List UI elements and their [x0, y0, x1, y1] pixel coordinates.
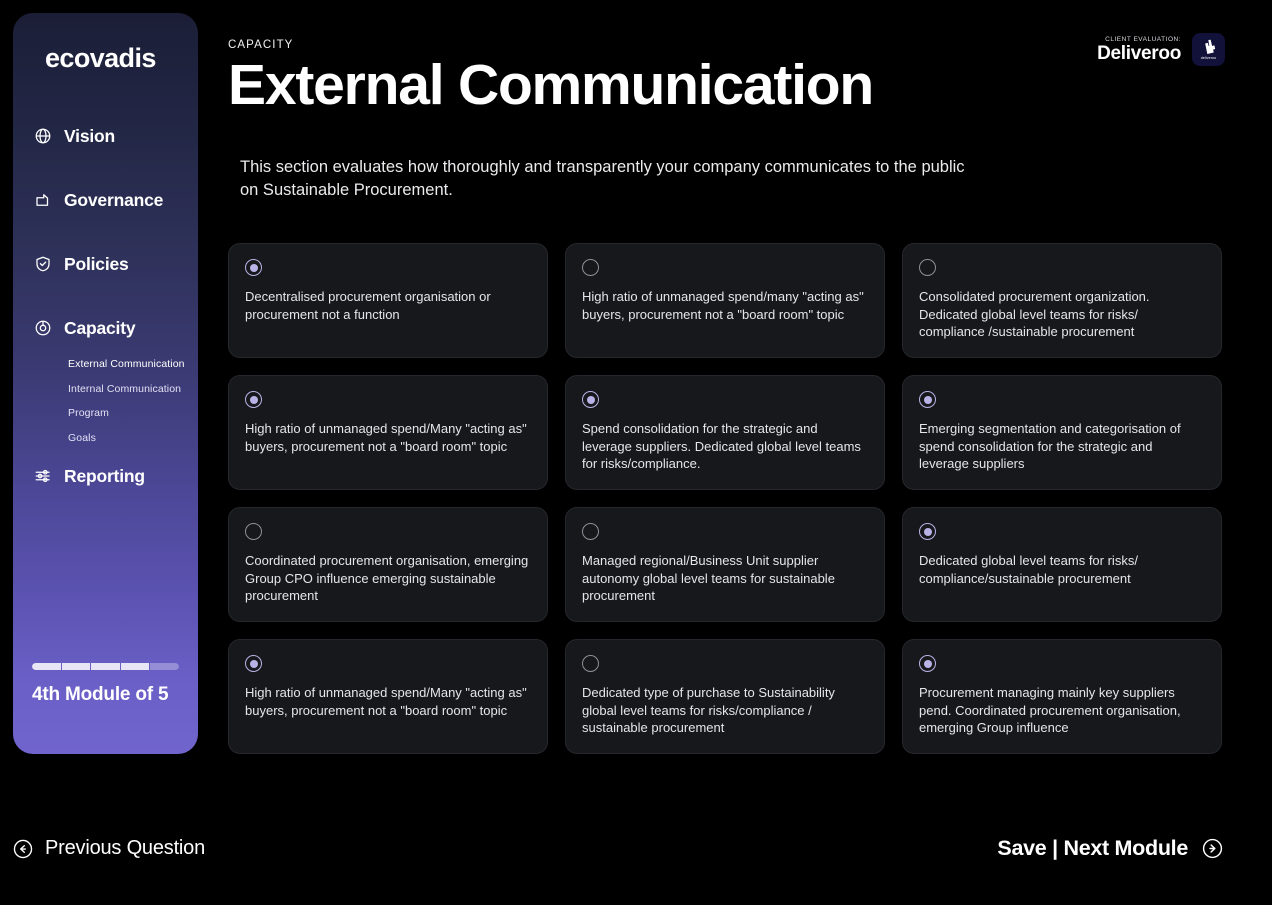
progress-segment — [121, 663, 150, 670]
option-label: Procurement managing mainly key supplier… — [919, 684, 1205, 737]
sidebar-nav: Vision Governance Policies — [13, 117, 198, 521]
ecovadis-logo: ecovadis — [45, 43, 156, 74]
subnav-item-program[interactable]: Program — [68, 408, 198, 419]
sidebar: ecovadis Vision Governance — [13, 13, 198, 754]
shield-check-icon — [33, 254, 53, 274]
module-progress-label: 4th Module of 5 — [32, 684, 179, 706]
radio-icon[interactable] — [582, 523, 599, 540]
options-grid: Decentralised procurement organisation o… — [228, 243, 1224, 754]
progress-segment — [150, 663, 179, 670]
target-icon — [33, 318, 53, 338]
sidebar-item-policies[interactable]: Policies — [13, 245, 198, 283]
app-root: ecovadis Vision Governance — [0, 0, 1272, 905]
sidebar-item-capacity[interactable]: Capacity — [13, 309, 198, 347]
radio-icon[interactable] — [245, 391, 262, 408]
save-next-module-button[interactable]: Save | Next Module — [997, 836, 1224, 861]
radio-icon[interactable] — [245, 259, 262, 276]
client-text: CLIENT EVALUATION: Deliveroo — [1097, 36, 1181, 63]
page-title: External Communication — [228, 56, 873, 116]
deliveroo-wordmark: deliveroo — [1201, 56, 1216, 60]
sidebar-item-label: Capacity — [64, 318, 135, 339]
radio-icon[interactable] — [582, 655, 599, 672]
option-card[interactable]: Emerging segmentation and categorisation… — [902, 375, 1222, 490]
radio-icon[interactable] — [919, 259, 936, 276]
option-label: Coordinated procurement organisation, em… — [245, 552, 531, 605]
radio-icon[interactable] — [245, 523, 262, 540]
option-card[interactable]: Procurement managing mainly key supplier… — [902, 639, 1222, 754]
option-card[interactable]: Coordinated procurement organisation, em… — [228, 507, 548, 622]
previous-question-label: Previous Question — [45, 837, 205, 860]
sidebar-item-governance[interactable]: Governance — [13, 181, 198, 219]
option-card[interactable]: Managed regional/Business Unit supplier … — [565, 507, 885, 622]
progress-bar — [32, 663, 179, 670]
badge-icon — [33, 190, 53, 210]
previous-question-button[interactable]: Previous Question — [12, 837, 205, 860]
radio-icon[interactable] — [582, 391, 599, 408]
option-card[interactable]: High ratio of unmanaged spend/Many "acti… — [228, 375, 548, 490]
option-card[interactable]: High ratio of unmanaged spend/many "acti… — [565, 243, 885, 358]
main-content: CAPACITY External Communication This sec… — [228, 0, 1272, 905]
arrow-left-circle-icon — [12, 838, 34, 860]
client-name: Deliveroo — [1097, 44, 1181, 63]
option-label: High ratio of unmanaged spend/Many "acti… — [245, 684, 531, 719]
kite-glyph — [1201, 39, 1216, 55]
deliveroo-logo-icon: deliveroo — [1192, 33, 1225, 66]
radio-icon[interactable] — [245, 655, 262, 672]
progress-segment — [91, 663, 120, 670]
option-card[interactable]: Dedicated global level teams for risks/ … — [902, 507, 1222, 622]
client-eyebrow: CLIENT EVALUATION: — [1097, 36, 1181, 43]
option-card[interactable]: Dedicated type of purchase to Sustainabi… — [565, 639, 885, 754]
option-card[interactable]: High ratio of unmanaged spend/Many "acti… — [228, 639, 548, 754]
option-label: High ratio of unmanaged spend/Many "acti… — [245, 420, 531, 455]
radio-icon[interactable] — [919, 655, 936, 672]
radio-icon[interactable] — [919, 391, 936, 408]
sidebar-item-label: Policies — [64, 254, 129, 275]
sidebar-item-reporting[interactable]: Reporting — [13, 457, 198, 495]
sidebar-item-label: Vision — [64, 126, 115, 147]
option-label: Emerging segmentation and categorisation… — [919, 420, 1205, 473]
option-label: Managed regional/Business Unit supplier … — [582, 552, 868, 605]
sidebar-item-vision[interactable]: Vision — [13, 117, 198, 155]
page-description: This section evaluates how thoroughly an… — [240, 156, 970, 202]
progress-segment — [32, 663, 61, 670]
option-card[interactable]: Spend consolidation for the strategic an… — [565, 375, 885, 490]
sidebar-item-label: Governance — [64, 190, 163, 211]
progress-segment — [62, 663, 91, 670]
option-label: Spend consolidation for the strategic an… — [582, 420, 868, 473]
module-progress: 4th Module of 5 — [32, 663, 179, 706]
client-evaluation-badge: CLIENT EVALUATION: Deliveroo deliveroo — [1097, 33, 1225, 66]
option-card[interactable]: Decentralised procurement organisation o… — [228, 243, 548, 358]
option-label: Decentralised procurement organisation o… — [245, 288, 531, 323]
option-label: Consolidated procurement organization. D… — [919, 288, 1205, 341]
option-card[interactable]: Consolidated procurement organization. D… — [902, 243, 1222, 358]
sidebar-item-label: Reporting — [64, 466, 145, 487]
save-next-module-label: Save | Next Module — [997, 836, 1188, 861]
sidebar-subnav-capacity: External Communication Internal Communic… — [13, 359, 198, 443]
subnav-item-goals[interactable]: Goals — [68, 433, 198, 444]
globe-icon — [33, 126, 53, 146]
radio-icon[interactable] — [582, 259, 599, 276]
sliders-icon — [33, 466, 53, 486]
subnav-item-internal-communication[interactable]: Internal Communication — [68, 384, 198, 395]
section-eyebrow: CAPACITY — [228, 39, 293, 51]
option-label: Dedicated global level teams for risks/ … — [919, 552, 1205, 587]
option-label: Dedicated type of purchase to Sustainabi… — [582, 684, 868, 737]
arrow-right-circle-icon — [1201, 837, 1224, 860]
subnav-item-external-communication[interactable]: External Communication — [68, 359, 198, 370]
radio-icon[interactable] — [919, 523, 936, 540]
option-label: High ratio of unmanaged spend/many "acti… — [582, 288, 868, 323]
